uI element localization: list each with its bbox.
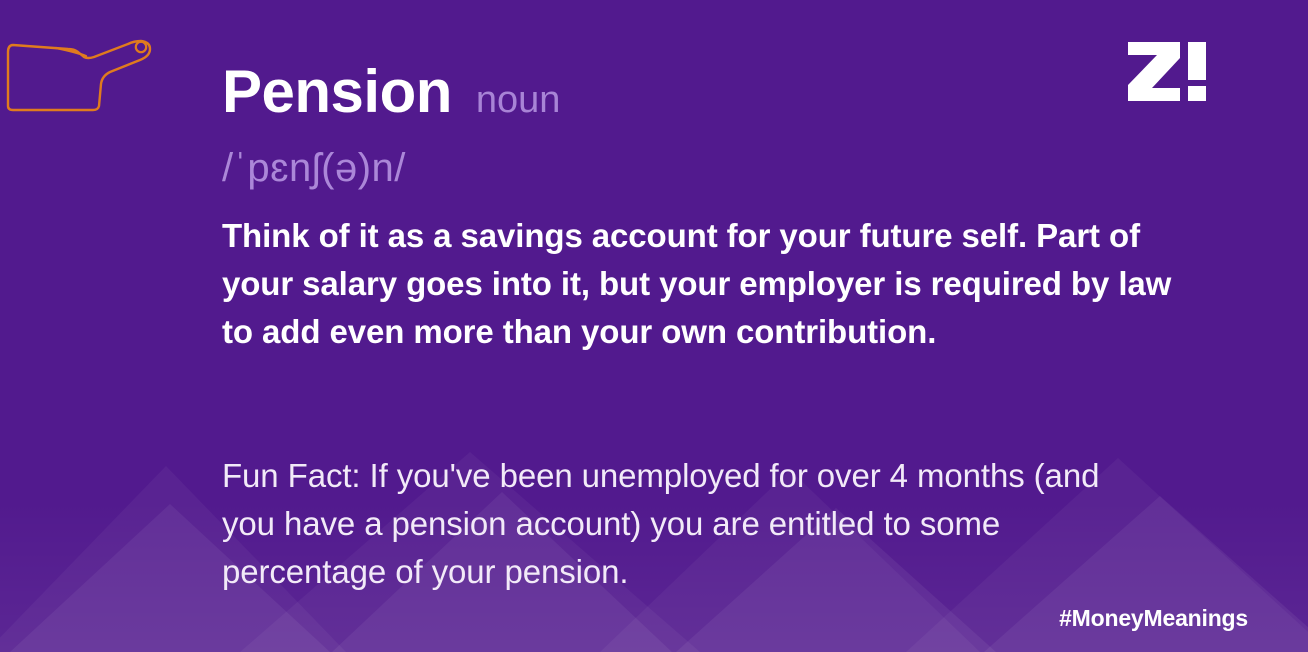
- phonetic-transcription: /ˈpɛnʃ(ə)n/: [222, 146, 406, 190]
- campaign-hashtag[interactable]: #MoneyMeanings: [1059, 605, 1248, 632]
- entry-content: Pension noun /ˈpɛnʃ(ə)n/ Think of it as …: [222, 0, 1222, 652]
- word-title: Pension: [222, 62, 452, 122]
- fun-fact-text: Fun Fact: If you've been unemployed for …: [222, 452, 1142, 597]
- definition-text: Think of it as a savings account for you…: [222, 212, 1187, 357]
- money-meanings-card: Pension noun /ˈpɛnʃ(ə)n/ Think of it as …: [0, 0, 1308, 652]
- pointing-hand-icon: [0, 18, 166, 118]
- part-of-speech: noun: [476, 81, 561, 119]
- headline-row: Pension noun: [222, 62, 560, 122]
